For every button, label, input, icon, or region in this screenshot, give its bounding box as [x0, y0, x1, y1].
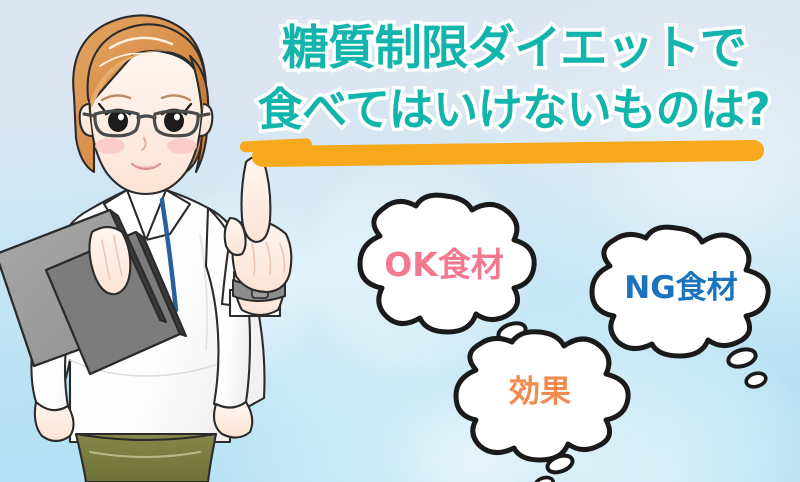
bubble-tail-small — [745, 371, 768, 389]
bubble-tail-large — [726, 346, 757, 369]
title-underline-highlight — [252, 140, 764, 167]
bubble-tail-small — [533, 475, 555, 482]
bubble-body — [456, 332, 628, 460]
poster-title: 糖質制限ダイエットで 食べてはいけないものは? — [236, 18, 792, 140]
thought-bubble-ok: OK食材 — [336, 192, 552, 350]
poster-canvas: 糖質制限ダイエットで 食べてはいけないものは? OK食材 NG食材 効果 — [0, 0, 800, 482]
title-line-2: 食べてはいけないものは? — [236, 79, 792, 140]
thought-bubble-effect: 効果 — [438, 330, 642, 470]
bubble-body — [360, 195, 534, 332]
title-line-1: 糖質制限ダイエットで — [236, 18, 792, 79]
